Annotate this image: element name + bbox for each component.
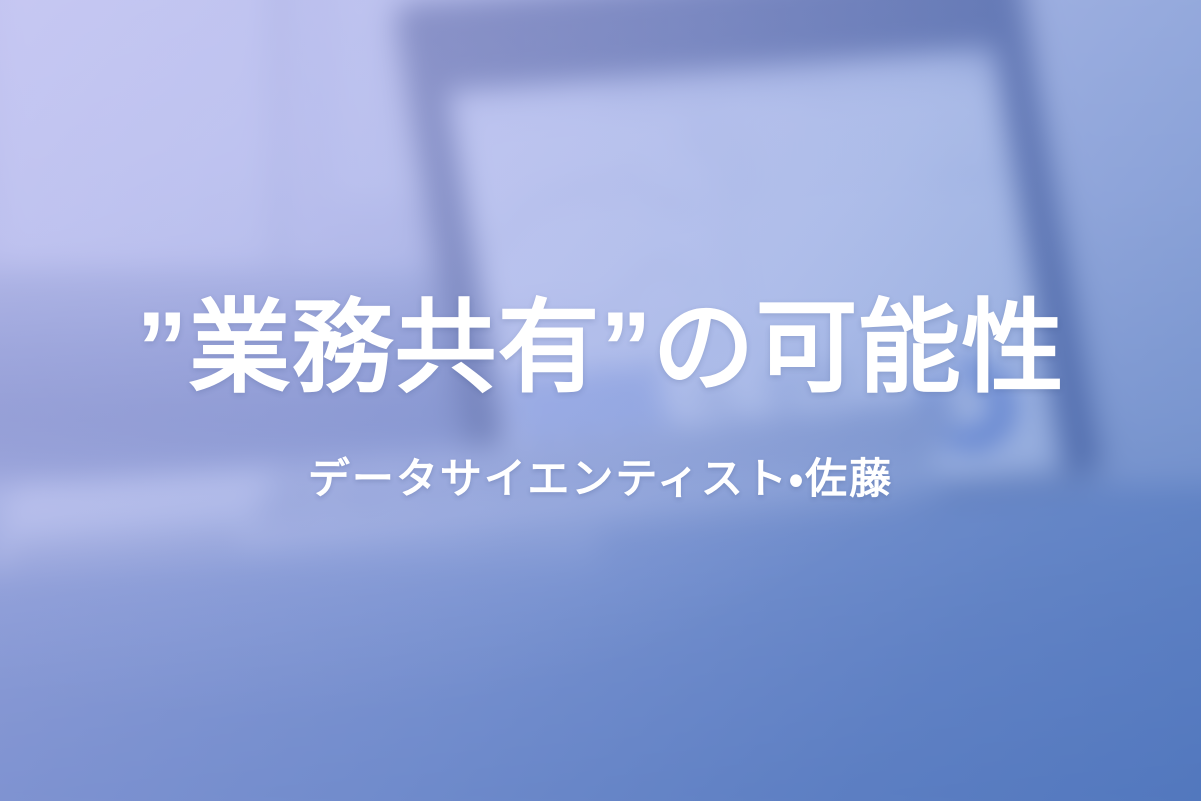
title-block: ”業務共有”の可能性 データサイエンティスト・佐藤 — [0, 0, 1201, 801]
page-subtitle: データサイエンティスト・佐藤 — [308, 445, 893, 506]
page-title: ”業務共有”の可能性 — [137, 295, 1065, 401]
slide-canvas: analytics.google.com/analytics/web/#/rep… — [0, 0, 1201, 801]
